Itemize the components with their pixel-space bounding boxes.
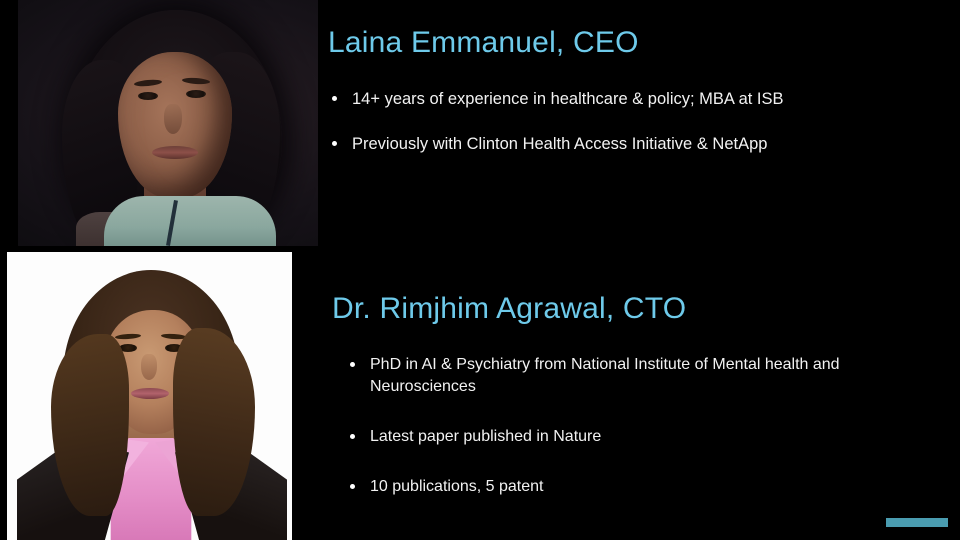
bullet-dot-icon (350, 434, 355, 439)
portrait-ceo-eye-right (186, 90, 206, 98)
bullet-dot-icon (332, 141, 337, 146)
person-heading-ceo: Laina Emmanuel, CEO (328, 26, 639, 60)
bullet-dot-icon (350, 362, 355, 367)
person-heading-cto: Dr. Rimjhim Agrawal, CTO (332, 292, 686, 326)
bullet-text: 10 publications, 5 patent (370, 478, 543, 495)
bullet-text: Latest paper published in Nature (370, 428, 601, 445)
bullet-list-ceo: 14+ years of experience in healthcare & … (328, 88, 928, 178)
portrait-photo-cto (7, 252, 292, 540)
portrait-ceo-mouth (152, 146, 198, 159)
portrait-cto-nose (141, 354, 157, 380)
portrait-ceo-garment (104, 196, 276, 246)
bullet-list-cto: PhD in AI & Psychiatry from National Ins… (346, 354, 906, 526)
bullet-dot-icon (332, 96, 337, 101)
presentation-slide: Laina Emmanuel, CEO 14+ years of experie… (0, 0, 960, 540)
portrait-ceo-nose (164, 104, 182, 134)
portrait-ceo-eye-left (138, 92, 158, 100)
portrait-cto-mouth (131, 388, 169, 399)
accent-bar (886, 518, 948, 527)
bullet-text: 14+ years of experience in healthcare & … (352, 90, 784, 108)
list-item: Previously with Clinton Health Access In… (328, 133, 928, 155)
list-item: 14+ years of experience in healthcare & … (328, 88, 928, 110)
list-item: Latest paper published in Nature (346, 426, 906, 448)
list-item: PhD in AI & Psychiatry from National Ins… (346, 354, 906, 398)
list-item: 10 publications, 5 patent (346, 476, 906, 498)
portrait-photo-ceo (18, 0, 318, 246)
bullet-dot-icon (350, 484, 355, 489)
bullet-text: PhD in AI & Psychiatry from National Ins… (370, 356, 840, 395)
bullet-text: Previously with Clinton Health Access In… (352, 135, 767, 153)
